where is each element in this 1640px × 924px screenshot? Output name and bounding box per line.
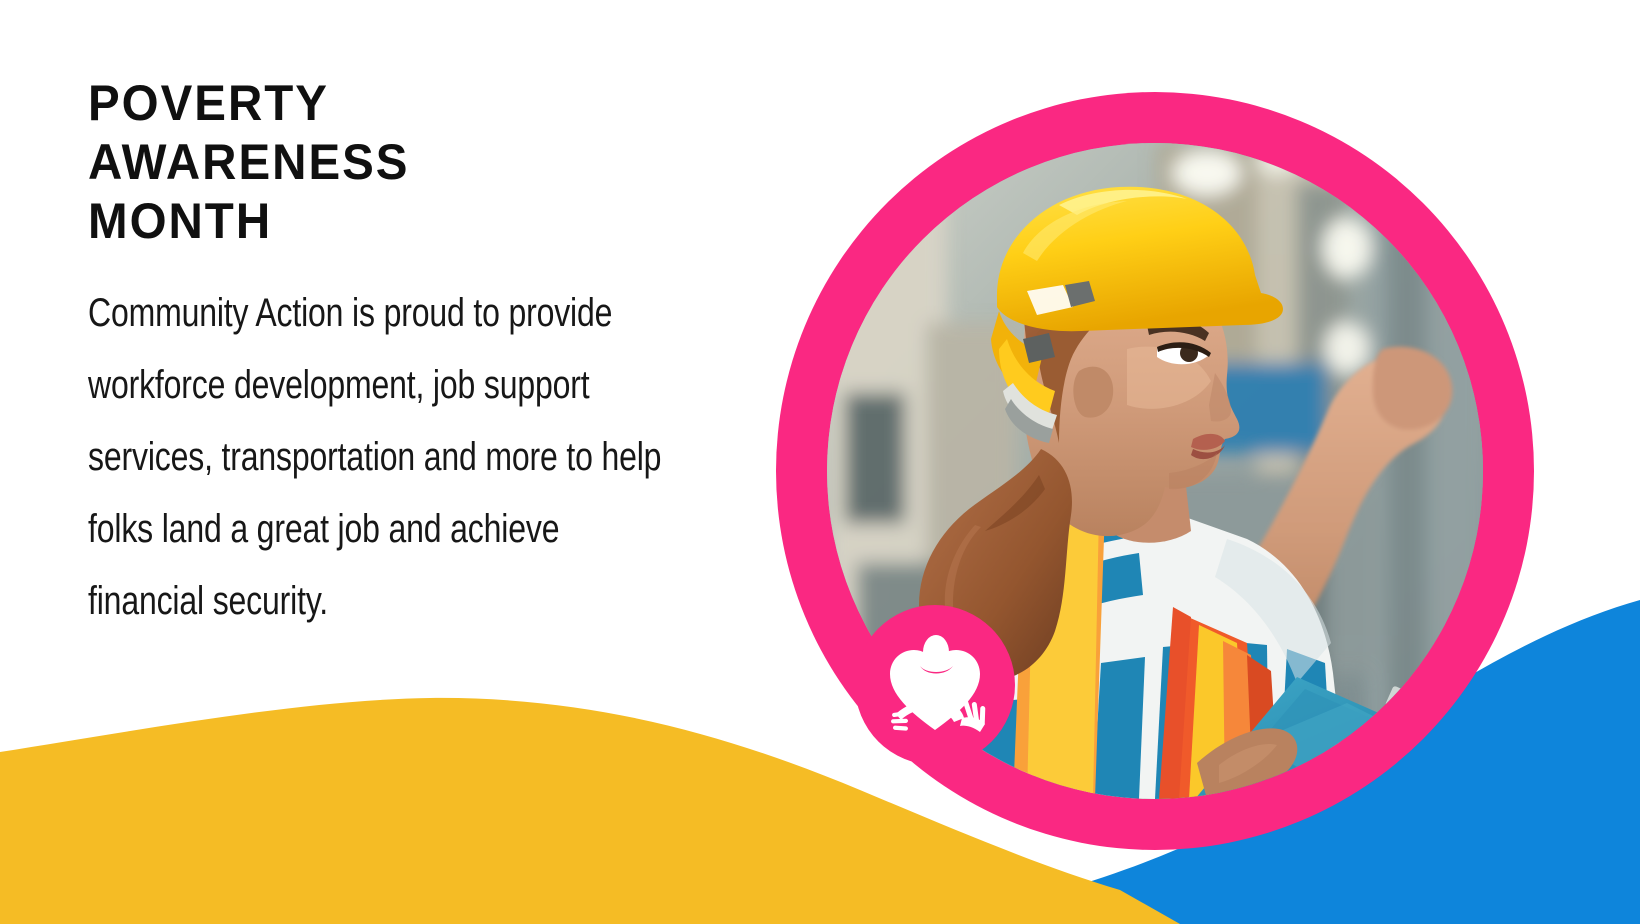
- page-title: POVERTY AWARENESS MONTH: [88, 74, 658, 251]
- poster-canvas: POVERTY AWARENESS MONTH Community Action…: [0, 0, 1640, 924]
- text-column: POVERTY AWARENESS MONTH Community Action…: [88, 74, 688, 637]
- body-paragraph: Community Action is proud to provide wor…: [88, 277, 680, 637]
- heart-hands-icon: [880, 630, 990, 740]
- community-action-logo-badge: [855, 605, 1015, 765]
